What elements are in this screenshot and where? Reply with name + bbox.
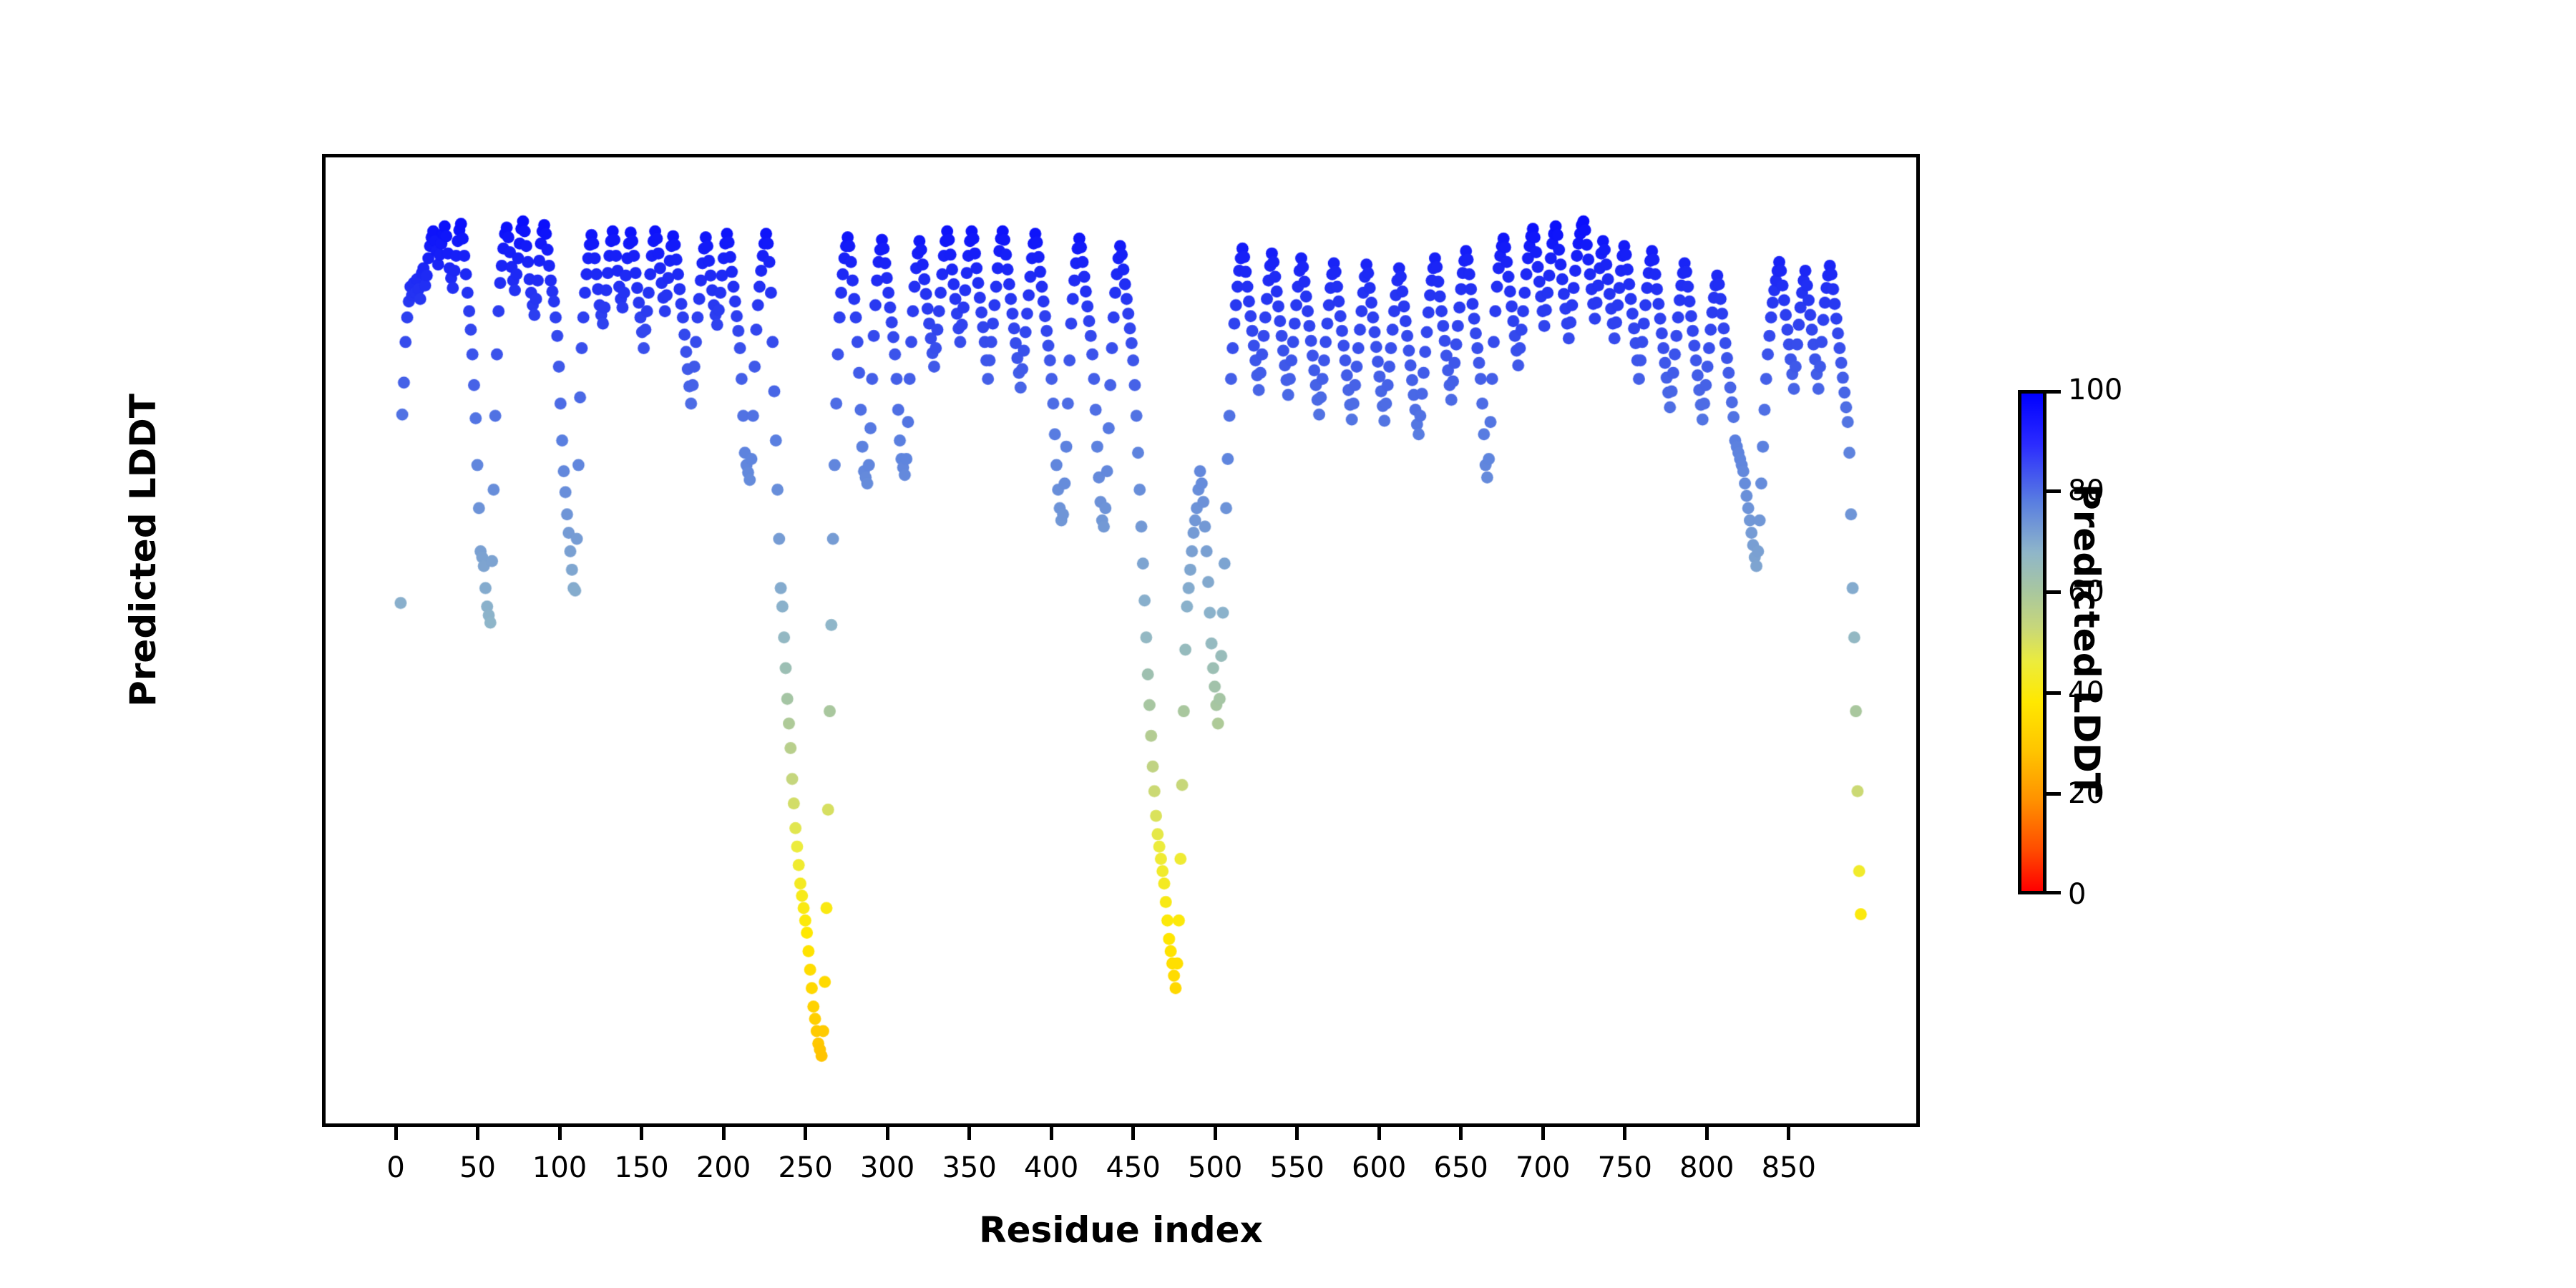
x-tick-mark — [640, 1127, 643, 1140]
x-tick-mark — [1541, 1127, 1545, 1140]
x-tick-mark — [394, 1127, 398, 1140]
colorbar-tick-mark — [2046, 489, 2061, 493]
x-tick-mark — [967, 1127, 971, 1140]
x-tick-mark — [1295, 1127, 1299, 1140]
colorbar: 020406080100 — [2018, 390, 2046, 894]
x-tick-mark — [1050, 1127, 1053, 1140]
colorbar-tick-mark — [2046, 390, 2061, 394]
colorbar-tick-mark — [2046, 590, 2061, 594]
x-tick-mark — [1131, 1127, 1135, 1140]
x-tick-mark — [1787, 1127, 1790, 1140]
figure-root: Predicted LDDT 30405060708090100 0501001… — [0, 0, 2576, 1288]
colorbar-tick-mark — [2046, 691, 2061, 695]
x-tick-label: 850 — [1717, 1153, 1860, 1182]
scatter-plot-canvas — [326, 157, 1916, 1123]
colorbar-tick-mark — [2046, 792, 2061, 796]
colorbar-gradient — [2018, 390, 2046, 894]
x-axis-label: Residue index — [322, 1209, 1920, 1251]
x-tick-mark — [722, 1127, 726, 1140]
plot-axes-frame — [322, 154, 1920, 1127]
y-axis-label: Predicted LDDT — [122, 336, 164, 765]
x-tick-mark — [1459, 1127, 1463, 1140]
colorbar-tick-label: 0 — [2068, 880, 2086, 909]
x-tick-mark — [1623, 1127, 1626, 1140]
colorbar-label: Predicted LDDT — [2066, 404, 2107, 877]
x-tick-mark — [558, 1127, 562, 1140]
colorbar-tick-mark — [2046, 891, 2061, 894]
x-tick-mark — [886, 1127, 889, 1140]
x-tick-mark — [1377, 1127, 1381, 1140]
x-tick-mark — [804, 1127, 807, 1140]
colorbar-tick-label: 100 — [2068, 376, 2122, 404]
x-tick-mark — [1705, 1127, 1709, 1140]
x-tick-mark — [1214, 1127, 1217, 1140]
x-tick-mark — [476, 1127, 479, 1140]
